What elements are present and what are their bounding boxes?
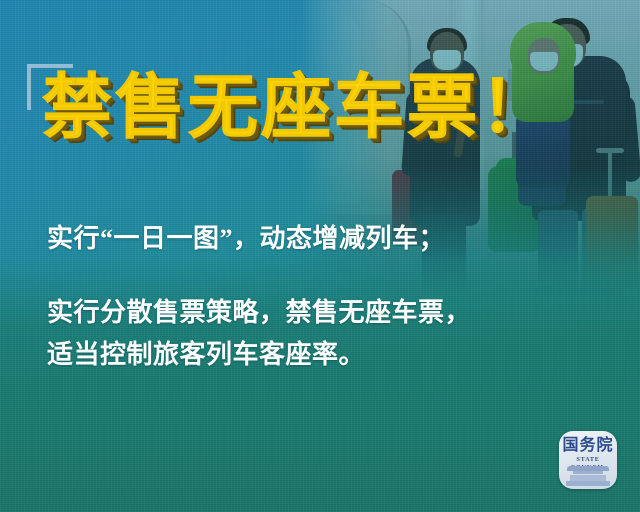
badge-chinese-label: 国务院 [559, 438, 617, 454]
body-line-1: 实行“一日一图”，动态增减列车； [47, 218, 607, 260]
bracket-vertical-arm [27, 64, 31, 110]
body-line-2: 实行分散售票策略，禁售无座车票， [47, 292, 607, 334]
state-council-badge: 国务院 STATE COUNCIL [559, 431, 617, 489]
poster-root: PH 新华社 [0, 0, 640, 512]
body-line-3: 适当控制旅客列车客座率。 [47, 334, 607, 376]
badge-building-roof-second [573, 471, 603, 474]
badge-building-base [566, 481, 610, 486]
body-copy: 实行“一日一图”，动态增减列车； 实行分散售票策略，禁售无座车票， 适当控制旅客… [47, 218, 607, 376]
badge-building-icon [565, 466, 611, 486]
page-title: 禁售无座车票！ [42, 68, 553, 146]
